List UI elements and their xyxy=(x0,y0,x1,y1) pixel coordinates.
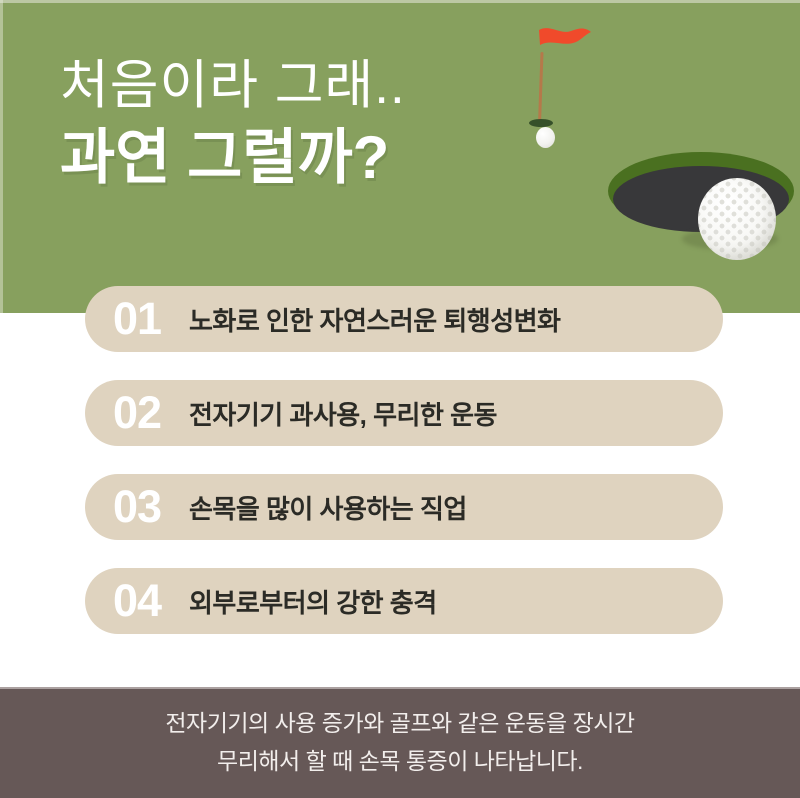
title-bold: 과연 그럴까? xyxy=(60,126,540,189)
title-thin: 처음이라 그래.. xyxy=(60,58,540,114)
list-item: 01 노화로 인한 자연스러운 퇴행성변화 xyxy=(85,286,723,352)
golf-ball-small-icon xyxy=(536,127,555,148)
list-item-label: 전자기기 과사용, 무리한 운동 xyxy=(189,395,497,432)
list-item-label: 외부로부터의 강한 충격 xyxy=(189,583,437,620)
list-item: 03 손목을 많이 사용하는 직업 xyxy=(85,474,723,540)
list-item-label: 손목을 많이 사용하는 직업 xyxy=(189,489,467,526)
golf-flag-icon xyxy=(538,26,592,56)
title-block: 처음이라 그래.. 과연 그럴까? xyxy=(60,58,540,189)
list-item: 02 전자기기 과사용, 무리한 운동 xyxy=(85,380,723,446)
hero-left-border xyxy=(0,0,3,313)
infographic-poster: 처음이라 그래.. 과연 그럴까? 01 노화로 인한 자연스러운 퇴행성변화 … xyxy=(0,0,800,798)
hero-top-border xyxy=(0,0,800,3)
footer-line-1: 전자기기의 사용 증가와 골프와 같은 운동을 장시간 xyxy=(165,705,634,742)
hero-section: 처음이라 그래.. 과연 그럴까? xyxy=(0,0,800,313)
list-item-number: 02 xyxy=(85,390,189,437)
list-item-number: 03 xyxy=(85,484,189,531)
footer-line-2: 무리해서 할 때 손목 통증이 나타납니다. xyxy=(217,743,583,780)
golf-ball-icon xyxy=(698,178,776,260)
list-item: 04 외부로부터의 강한 충격 xyxy=(85,568,723,634)
footer-section: 전자기기의 사용 증가와 골프와 같은 운동을 장시간 무리해서 할 때 손목 … xyxy=(0,687,800,798)
reason-list: 01 노화로 인한 자연스러운 퇴행성변화 02 전자기기 과사용, 무리한 운… xyxy=(85,286,723,634)
list-item-number: 04 xyxy=(85,578,189,625)
footer-top-border xyxy=(0,687,800,689)
list-item-label: 노화로 인한 자연스러운 퇴행성변화 xyxy=(189,301,560,338)
list-item-number: 01 xyxy=(85,296,189,343)
golf-hole-small-icon xyxy=(529,119,553,127)
